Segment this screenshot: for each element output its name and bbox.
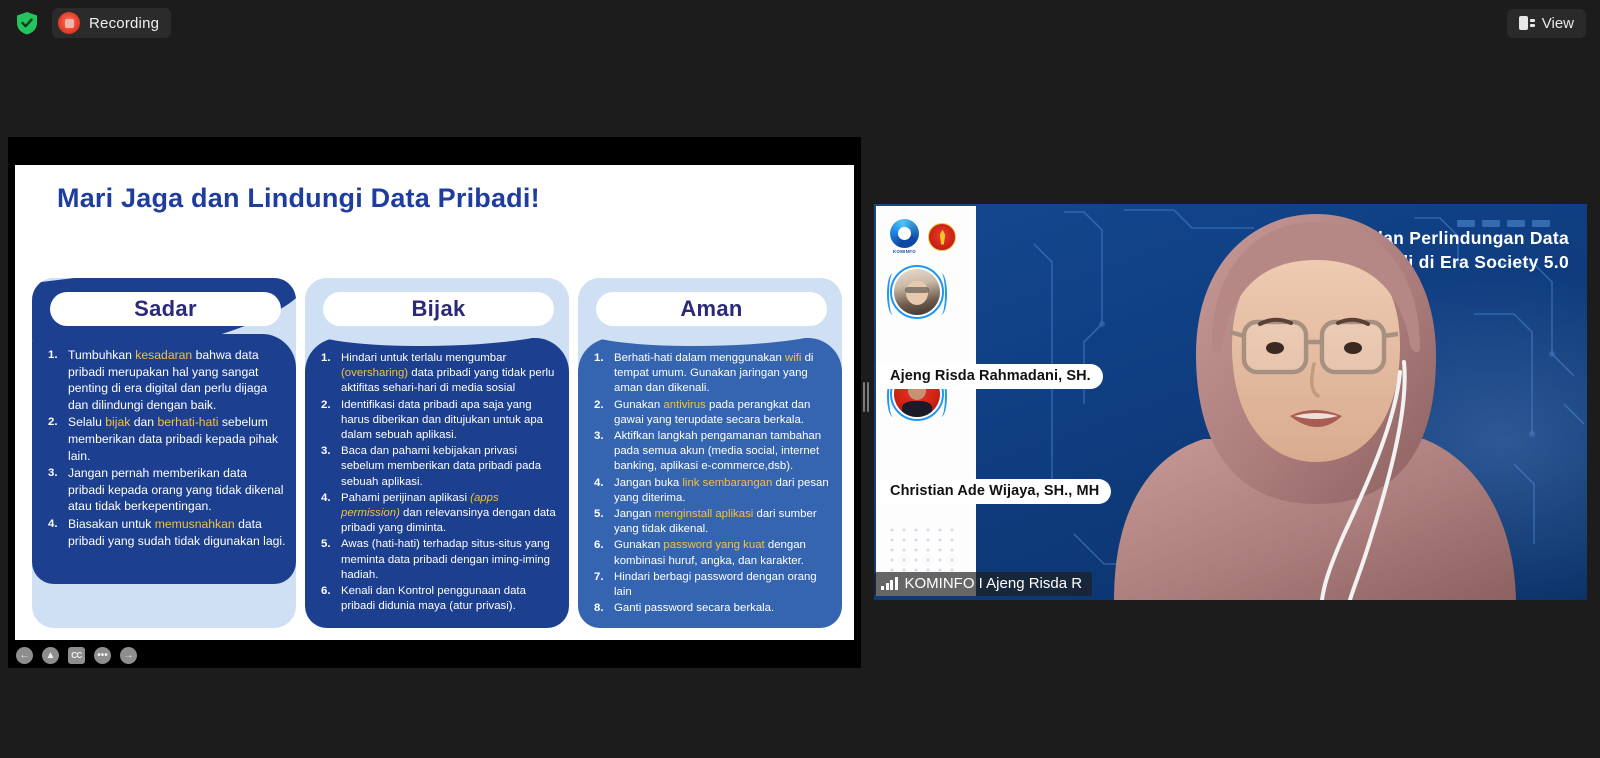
kominfo-logo: KOMINFO [888, 219, 921, 254]
card-sadar-header: Sadar [32, 278, 296, 340]
panel-resize-handle[interactable] [862, 379, 870, 415]
card-aman-list: Berhati-hati dalam menggunakan wifi di t… [586, 351, 832, 616]
list-item-text: Jangan pernah memberikan data pribadi ke… [68, 466, 283, 513]
list-item: Biasakan untuk memusnahkan data pribadi … [40, 516, 286, 549]
list-item-text: Ganti password secara berkala. [614, 602, 774, 614]
shared-screen-region[interactable]: Mari Jaga dan Lindungi Data Pribadi! Sad… [8, 137, 861, 668]
background-speaker-sidebar: KOMINFO [876, 206, 976, 596]
highlighted-term: password yang kuat [663, 539, 764, 551]
card-aman-body: Berhati-hati dalam menggunakan wifi di t… [578, 338, 842, 628]
list-item: Baca dan pahami kebijakan privasi sebelu… [313, 444, 559, 490]
logo-row: KOMINFO [876, 206, 976, 254]
speaker-1-name-tag: Ajeng Risda Rahmadani, SH. [876, 364, 1103, 389]
record-dot-icon [58, 12, 80, 34]
list-item-text: Hindari untuk terlalu mengumbar [341, 352, 506, 364]
list-item-text: Hindari berbagi password dengan orang la… [614, 571, 817, 598]
highlighted-term: memusnahkan [155, 517, 235, 531]
shield-check-icon[interactable] [12, 8, 42, 38]
recording-indicator[interactable]: Recording [52, 8, 171, 38]
list-item: Selalu bijak dan berhati-hati sebelum me… [40, 414, 286, 464]
list-item-text: dan [130, 415, 157, 429]
list-item: Tumbuhkan kesadaran bahwa data pribadi m… [40, 347, 286, 413]
card-sadar: Sadar Tumbuhkan kesadaran bahwa data pri… [32, 278, 296, 628]
annotate-icon[interactable]: ▲ [42, 647, 59, 664]
card-bijak: Bijak Hindari untuk terlalu mengumbar (o… [305, 278, 569, 628]
list-item: Ganti password secara berkala. [586, 601, 832, 616]
slide-control-bar: ← ▲ CC ••• → [16, 647, 137, 664]
highlighted-term: berhati-hati [157, 415, 218, 429]
top-bar-left-group: Recording [0, 8, 171, 38]
list-item: Pahami perijinan aplikasi (apps permissi… [313, 491, 559, 537]
top-bar-right-group: View [1507, 9, 1600, 38]
presentation-slide: Mari Jaga dan Lindungi Data Pribadi! Sad… [15, 165, 854, 640]
list-item: Aktifkan langkah pengamanan tambahan pad… [586, 429, 832, 475]
speaker-1-block [876, 265, 976, 319]
recording-label: Recording [89, 15, 159, 32]
list-item: Hindari untuk terlalu mengumbar (oversha… [313, 351, 559, 397]
highlighted-term: link sembarangan [682, 477, 772, 489]
speaker-2-name-tag: Christian Ade Wijaya, SH., MH [876, 479, 1111, 504]
card-bijak-list: Hindari untuk terlalu mengumbar (oversha… [313, 351, 559, 614]
next-slide-icon[interactable]: → [120, 647, 137, 664]
list-item: Kenali dan Kontrol penggunaan data priba… [313, 584, 559, 614]
list-item-text: Jangan [614, 508, 655, 520]
card-sadar-body: Tumbuhkan kesadaran bahwa data pribadi m… [32, 334, 296, 584]
card-aman: Aman Berhati-hati dalam menggunakan wifi… [578, 278, 842, 628]
list-item-text: Jangan buka [614, 477, 682, 489]
highlighted-term: menginstall aplikasi [655, 508, 754, 520]
list-item: Awas (hati-hati) terhadap situs-situs ya… [313, 537, 559, 583]
slide-letterbox-top [8, 137, 861, 165]
view-button-label: View [1542, 15, 1574, 32]
list-item: Jangan menginstall aplikasi dari sumber … [586, 507, 832, 537]
view-button[interactable]: View [1507, 9, 1586, 38]
list-item-text: Identifikasi data pribadi apa saja yang … [341, 399, 543, 441]
highlighted-term: kesadaran [135, 348, 192, 362]
highlighted-term: wifi [785, 352, 801, 364]
closed-captions-icon[interactable]: CC [68, 647, 85, 664]
list-item-text: Gunakan [614, 399, 663, 411]
list-item: Gunakan password yang kuat dengan kombin… [586, 538, 832, 568]
slide-card-row: Sadar Tumbuhkan kesadaran bahwa data pri… [32, 278, 842, 628]
list-item-text: Pahami perijinan aplikasi [341, 492, 470, 504]
speaker-video-tile[interactable]: Cybercrime dan Perlindungan Data Pribadi… [874, 204, 1587, 600]
list-item-text: Berhati-hati dalam menggunakan [614, 352, 785, 364]
card-bijak-title: Bijak [323, 292, 554, 326]
slide-title: Mari Jaga dan Lindungi Data Pribadi! [57, 183, 540, 214]
zoom-meeting-window: Recording View Mari Jaga dan Lindungi Da… [0, 0, 1600, 758]
list-item: Berhati-hati dalam menggunakan wifi di t… [586, 351, 832, 397]
list-item-text: Tumbuhkan [68, 348, 135, 362]
garuda-emblem-icon [928, 223, 956, 251]
list-item-text: Biasakan untuk [68, 517, 155, 531]
presenter-video-image [1104, 204, 1524, 600]
card-aman-title: Aman [596, 292, 827, 326]
list-item: Hindari berbagi password dengan orang la… [586, 570, 832, 600]
previous-slide-icon[interactable]: ← [16, 647, 33, 664]
participant-name-label: KOMINFO I Ajeng Risda R [905, 575, 1083, 592]
card-sadar-list: Tumbuhkan kesadaran bahwa data pribadi m… [40, 347, 286, 549]
layout-view-icon [1519, 16, 1535, 30]
card-bijak-body: Hindari untuk terlalu mengumbar (oversha… [305, 338, 569, 628]
participant-name-bar: KOMINFO I Ajeng Risda R [874, 572, 1092, 596]
highlighted-term: bijak [105, 415, 130, 429]
list-item: Jangan pernah memberikan data pribadi ke… [40, 465, 286, 515]
highlighted-term: (oversharing) [341, 367, 408, 379]
highlighted-term: antivirus [663, 399, 705, 411]
list-item-text: Awas (hati-hati) terhadap situs-situs ya… [341, 538, 550, 580]
list-item-text: Selalu [68, 415, 105, 429]
dot-grid-decoration [888, 526, 960, 572]
meeting-top-bar: Recording View [0, 0, 1600, 46]
list-item-text: Aktifkan langkah pengamanan tambahan pad… [614, 430, 821, 472]
list-item-text: Kenali dan Kontrol penggunaan data priba… [341, 585, 526, 612]
list-item: Identifikasi data pribadi apa saja yang … [313, 398, 559, 444]
speaker-avatar-1 [890, 265, 944, 319]
list-item: Jangan buka link sembarangan dari pesan … [586, 476, 832, 506]
card-sadar-title: Sadar [50, 292, 281, 326]
list-item-text: Baca dan pahami kebijakan privasi sebelu… [341, 445, 541, 487]
list-item-text: Gunakan [614, 539, 663, 551]
list-item: Gunakan antivirus pada perangkat dan gaw… [586, 398, 832, 428]
signal-bars-icon [881, 577, 898, 590]
more-options-icon[interactable]: ••• [94, 647, 111, 664]
